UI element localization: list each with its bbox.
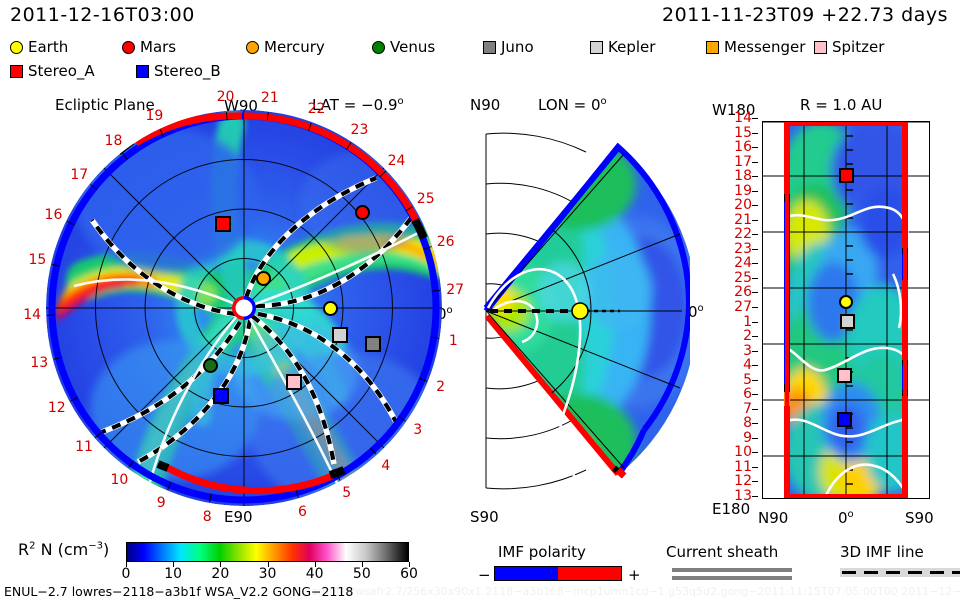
degree-sup: o xyxy=(698,303,704,314)
legend-item-mars: Mars xyxy=(122,38,242,56)
map-carrington-tick xyxy=(752,162,758,163)
legend-label: Messenger xyxy=(724,38,805,56)
zero-deg: 0 xyxy=(838,509,848,527)
carrington-tick-label: 14 xyxy=(23,307,41,323)
colorbar-tick-label: 0 xyxy=(122,566,131,582)
map-carrington-tick xyxy=(752,322,758,323)
carrington-tick-label: 21 xyxy=(261,90,279,106)
map-carrington-tick xyxy=(752,452,758,453)
carrington-tick-label: 15 xyxy=(29,252,47,268)
carrington-tick-label: 10 xyxy=(110,472,128,488)
spitzer-marker-icon xyxy=(814,41,827,54)
map-carrington-label: 13 xyxy=(734,488,752,504)
map-carrington-tick xyxy=(752,438,758,439)
carrington-tick-label: 26 xyxy=(437,234,455,250)
kepler-marker-icon xyxy=(590,41,603,54)
map-carrington-tick xyxy=(752,307,758,308)
carrington-tick-label: 11 xyxy=(75,439,93,455)
colorbar-label: R2 N (cm−3) xyxy=(18,540,109,559)
carrington-tick-label: 23 xyxy=(351,122,369,138)
imf-negative-half xyxy=(495,567,558,580)
map-carrington-tick xyxy=(752,133,758,134)
carrington-tick-label: 19 xyxy=(145,108,163,124)
map-marker-stereo-a xyxy=(839,168,854,183)
map-carrington-tick xyxy=(752,249,758,250)
legend-item-spitzer: Spitzer xyxy=(814,38,884,56)
current-sheath-title: Current sheath xyxy=(666,543,778,561)
carrington-tick-label: 20 xyxy=(217,89,235,105)
imf-minus-sign: − xyxy=(478,566,491,584)
carrington-tick-label: 25 xyxy=(417,191,435,207)
legend-item-earth: Earth xyxy=(10,38,118,56)
ecliptic-marker-stereo-a xyxy=(215,216,231,232)
legend-item-stereo-b: Stereo_B xyxy=(136,62,221,80)
ecliptic-plane-plot[interactable]: 2021222324252627123456891011121314151617… xyxy=(46,110,442,506)
legend-label: Mars xyxy=(140,38,176,56)
degree-sup: o xyxy=(398,96,404,107)
mars-marker-icon xyxy=(122,41,135,54)
map-marker-kepler xyxy=(840,314,855,329)
carrington-tick-mark xyxy=(47,314,55,316)
map-marker-spitzer xyxy=(837,368,852,383)
legend-item-kepler: Kepler xyxy=(590,38,702,56)
map-carrington-tick xyxy=(752,423,758,424)
radial-map-plot[interactable] xyxy=(762,121,930,499)
cb-rest: N (cm xyxy=(36,540,89,559)
meridional-earth-marker xyxy=(572,303,588,319)
carrington-tick-label: 4 xyxy=(381,458,390,474)
meridional-plane-plot[interactable] xyxy=(468,112,690,510)
map-carrington-tick xyxy=(752,380,758,381)
map-carrington-tick xyxy=(752,220,758,221)
imf-positive-half xyxy=(558,567,621,580)
map-carrington-tick xyxy=(752,234,758,235)
cb-exp2: −3 xyxy=(88,541,103,552)
carrington-tick-label: 17 xyxy=(70,167,88,183)
map-carrington-tick xyxy=(752,292,758,293)
degree-sup: o xyxy=(601,96,607,107)
map-carrington-tick xyxy=(752,481,758,482)
colorbar-tick-label: 10 xyxy=(164,566,182,582)
colorbar-tick-label: 40 xyxy=(306,566,324,582)
ecliptic-marker-earth xyxy=(323,301,338,316)
legend-label: Earth xyxy=(28,38,68,56)
legend-item-messenger: Messenger xyxy=(706,38,810,56)
sheath-line-top xyxy=(672,568,792,572)
map-carrington-tick xyxy=(752,191,758,192)
radial-map-title: R = 1.0 AU xyxy=(800,96,882,114)
carrington-tick-label: 5 xyxy=(342,485,351,501)
map-marker-stereo-b xyxy=(837,412,852,427)
imf-line-title: 3D IMF line xyxy=(840,543,924,561)
juno-marker-icon xyxy=(483,41,496,54)
legend-label: Stereo_B xyxy=(154,62,221,80)
observation-datetime: 2011-12-16T03:00 xyxy=(10,4,195,26)
carrington-tick-label: 9 xyxy=(157,495,166,511)
map-carrington-tick xyxy=(752,365,758,366)
legend-item-venus: Venus xyxy=(372,38,479,56)
carrington-tick-label: 6 xyxy=(298,504,307,520)
legend-label: Kepler xyxy=(608,38,655,56)
ecliptic-marker-kepler xyxy=(332,327,348,343)
imf-line-swatch xyxy=(840,568,960,577)
legend-item-juno: Juno xyxy=(483,38,586,56)
colorbar-tick-label: 50 xyxy=(353,566,371,582)
radial-map-x-right: S90 xyxy=(905,509,934,527)
density-colorbar xyxy=(126,542,409,562)
watermark-text: xamples/wsafr2.7/256x30x90x1.2118−a3b1f.… xyxy=(305,585,960,598)
carrington-tick-label: 2 xyxy=(436,379,445,395)
body-legend-row-1: Earth Mars Mercury Venus Juno Kepler Mes… xyxy=(10,38,888,56)
colorbar-tick-labels: 0102030405060 xyxy=(126,562,409,578)
carrington-tick-label: 27 xyxy=(446,282,464,298)
map-carrington-tick xyxy=(752,205,758,206)
venus-marker-icon xyxy=(372,41,385,54)
map-carrington-tick xyxy=(752,351,758,352)
imf-polarity-bar xyxy=(494,566,622,581)
meridional-density-field xyxy=(468,112,690,510)
carrington-tick-label: 22 xyxy=(308,101,326,117)
ecliptic-density-field xyxy=(46,110,442,506)
map-carrington-tick xyxy=(752,467,758,468)
degree-sup: o xyxy=(848,509,854,520)
legend-label: Venus xyxy=(390,38,435,56)
ecliptic-bottom-axis-label: E90 xyxy=(224,508,253,526)
map-carrington-tick xyxy=(752,263,758,264)
meridional-south-label: S90 xyxy=(470,508,499,526)
earth-marker-icon xyxy=(10,41,23,54)
carrington-tick-label: 18 xyxy=(105,133,123,149)
imf-polarity-title: IMF polarity xyxy=(498,543,586,561)
carrington-tick-label: 8 xyxy=(203,509,212,525)
carrington-tick-label: 3 xyxy=(413,422,422,438)
stereo-a-marker-icon xyxy=(10,65,23,78)
model-version-footer: ENUL−2.7 lowres−2118−a3b1f WSA_V2.2 GONG… xyxy=(4,584,353,599)
run-start-datetime: 2011-11-23T09 +22.73 days xyxy=(662,4,948,26)
ecliptic-marker-spitzer xyxy=(286,374,302,390)
carrington-tick-label: 13 xyxy=(30,355,48,371)
ecliptic-marker-stereo-b xyxy=(213,388,229,404)
body-legend-row-2: Stereo_A Stereo_B xyxy=(10,62,225,80)
ecliptic-marker-mars xyxy=(355,205,370,220)
colorbar-tick-label: 60 xyxy=(400,566,418,582)
map-carrington-tick xyxy=(752,176,758,177)
cb-r: R xyxy=(18,540,29,559)
colorbar-tick-label: 20 xyxy=(211,566,229,582)
meridional-right-label: 0o xyxy=(688,303,704,321)
ecliptic-marker-venus xyxy=(203,358,218,373)
cb-end: ) xyxy=(103,540,109,559)
carrington-tick-label: 16 xyxy=(45,207,63,223)
map-carrington-tick xyxy=(752,336,758,337)
legend-label: Spitzer xyxy=(832,38,884,56)
legend-item-stereo-a: Stereo_A xyxy=(10,62,132,80)
current-sheath-swatch xyxy=(672,568,792,580)
sheath-line-bottom xyxy=(672,576,792,580)
legend-item-mercury: Mercury xyxy=(246,38,368,56)
map-carrington-tick xyxy=(752,278,758,279)
ecliptic-marker-mercury xyxy=(256,271,271,286)
degree-sup: o xyxy=(447,305,453,316)
legend-label: Mercury xyxy=(264,38,325,56)
mercury-marker-icon xyxy=(246,41,259,54)
radial-map-x-center: 0o xyxy=(838,509,854,527)
map-carrington-tick xyxy=(752,394,758,395)
carrington-tick-label: 12 xyxy=(48,400,66,416)
colorbar-tick-label: 30 xyxy=(259,566,277,582)
map-marker-earth xyxy=(839,295,853,309)
carrington-tick-label: 24 xyxy=(388,153,406,169)
ecliptic-marker-juno xyxy=(365,336,381,352)
legend-label: Juno xyxy=(501,38,534,56)
map-carrington-tick xyxy=(752,496,758,497)
map-carrington-tick xyxy=(752,409,758,410)
legend-label: Stereo_A xyxy=(28,62,95,80)
map-carrington-tick xyxy=(752,147,758,148)
imf-plus-sign: + xyxy=(628,566,641,584)
carrington-tick-label: 1 xyxy=(449,333,458,349)
radial-map-carrington-labels: 1415161718192021222324252627123456789101… xyxy=(718,118,758,502)
radial-map-x-left: N90 xyxy=(758,509,788,527)
map-carrington-tick xyxy=(752,118,758,119)
messenger-marker-icon xyxy=(706,41,719,54)
stereo-b-marker-icon xyxy=(136,65,149,78)
